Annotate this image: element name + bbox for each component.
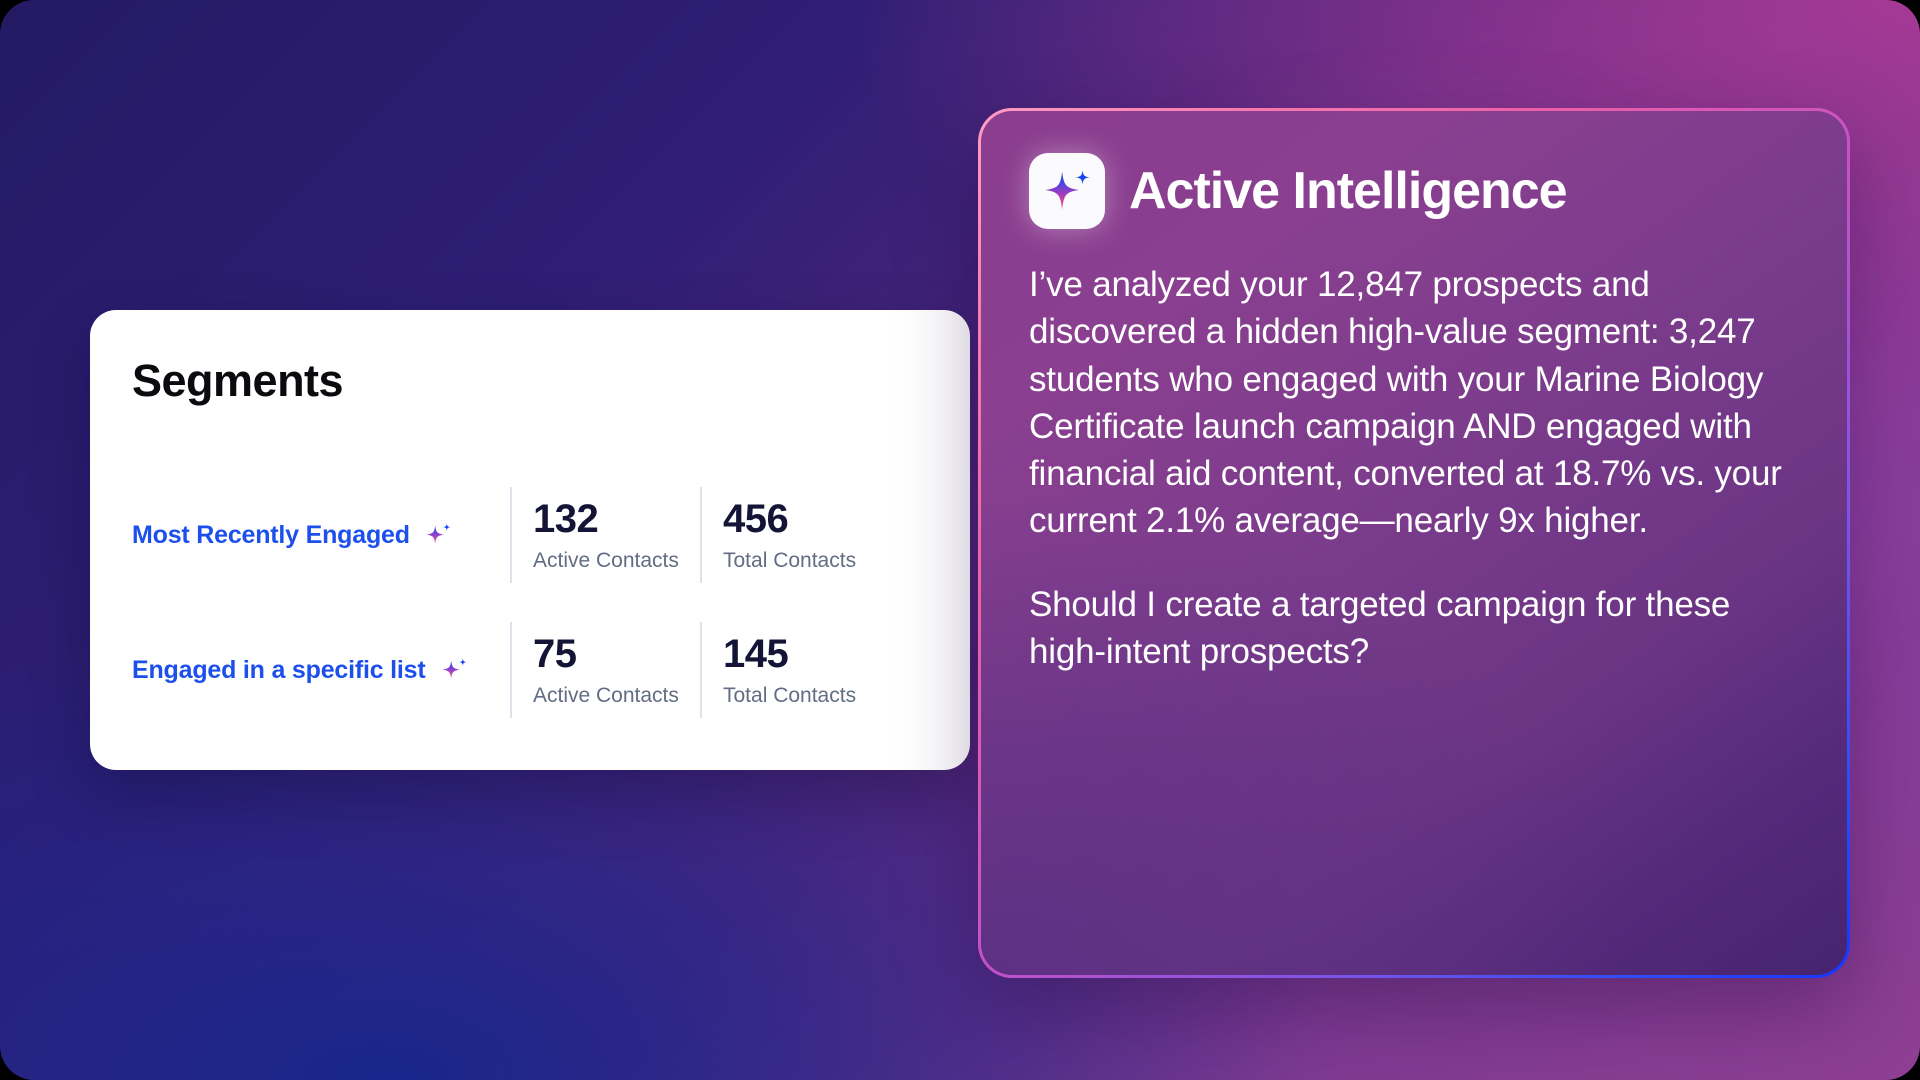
sparkle-icon (439, 655, 469, 685)
table-row: Engaged in a specific list 75 Active (90, 610, 970, 730)
segment-name-label: Most Recently Engaged (132, 521, 410, 550)
stat-label: Total Contacts (723, 549, 930, 573)
sparkle-icon (423, 520, 453, 550)
stat-label: Total Contacts (723, 684, 930, 708)
stat-label: Active Contacts (533, 684, 700, 708)
active-intelligence-card-body: Active Intelligence I’ve analyzed your 1… (981, 111, 1847, 975)
stat-total-contacts: 456 Total Contacts (700, 487, 930, 583)
ai-insight-paragraph: I’ve analyzed your 12,847 prospects and … (1029, 261, 1799, 545)
segment-name-label: Engaged in a specific list (132, 656, 426, 685)
stat-value: 75 (533, 633, 700, 675)
active-intelligence-header: Active Intelligence (1029, 153, 1799, 229)
active-intelligence-icon-badge (1029, 153, 1105, 229)
segment-link-engaged-in-a-specific-list[interactable]: Engaged in a specific list (90, 655, 510, 685)
stat-label: Active Contacts (533, 549, 700, 573)
segment-link-most-recently-engaged[interactable]: Most Recently Engaged (90, 520, 510, 550)
stat-value: 132 (533, 498, 700, 540)
active-intelligence-card: Active Intelligence I’ve analyzed your 1… (978, 108, 1850, 978)
stat-total-contacts: 145 Total Contacts (700, 622, 930, 718)
screenshot-canvas: Segments Most Recently Engaged (0, 0, 1920, 1080)
stat-value: 145 (723, 633, 930, 675)
stat-value: 456 (723, 498, 930, 540)
sparkle-icon (1041, 165, 1093, 217)
table-row: Most Recently Engaged 132 Active Cont (90, 475, 970, 595)
stat-active-contacts: 75 Active Contacts (510, 622, 700, 718)
active-intelligence-title: Active Intelligence (1129, 165, 1567, 217)
ai-question-paragraph: Should I create a targeted campaign for … (1029, 581, 1799, 676)
stat-active-contacts: 132 Active Contacts (510, 487, 700, 583)
segments-card: Segments Most Recently Engaged (90, 310, 970, 770)
page-title: Segments (132, 355, 343, 407)
